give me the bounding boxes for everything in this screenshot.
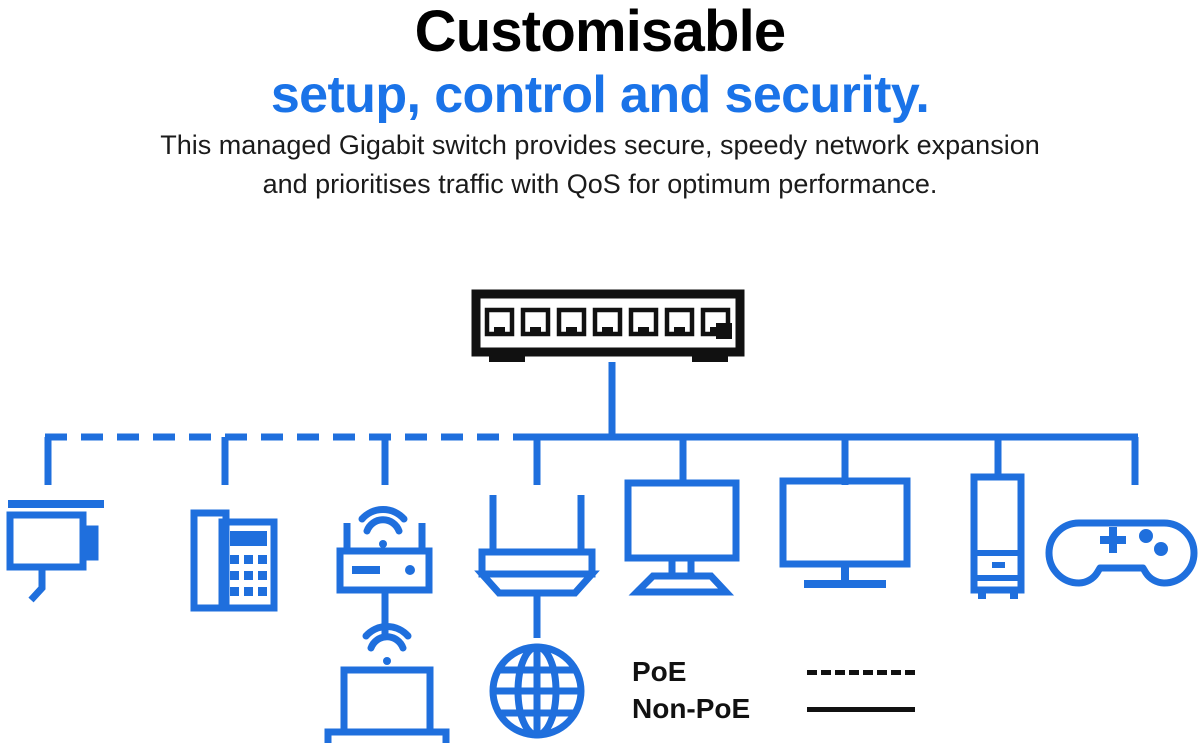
legend-swatch-solid — [807, 707, 915, 712]
legend-row-poe: PoE — [632, 655, 922, 689]
television-icon — [783, 481, 907, 584]
internet-globe-icon — [493, 647, 581, 735]
switch-status-indicator — [716, 323, 732, 339]
poe-bus — [45, 437, 537, 485]
legend-label-poe: PoE — [632, 655, 686, 689]
security-camera-icon — [8, 504, 104, 600]
desktop-monitor-icon — [628, 483, 736, 592]
subtitle-line-2: and prioritises traffic with QoS for opt… — [0, 165, 1200, 204]
wireless-laptop-icon — [328, 627, 446, 743]
infographic-page: Customisable setup, control and security… — [0, 0, 1200, 743]
headline-secondary: setup, control and security. — [0, 64, 1200, 126]
game-controller-icon — [1049, 523, 1194, 583]
subtitle-line-1: This managed Gigabit switch provides sec… — [0, 126, 1200, 165]
network-topology-diagram — [0, 270, 1200, 743]
headline-primary: Customisable — [0, 0, 1200, 64]
topology-svg — [0, 270, 1200, 743]
pc-tower-icon — [974, 477, 1021, 599]
ip-desk-phone-icon — [194, 513, 274, 608]
legend-label-non-poe: Non-PoE — [632, 692, 750, 726]
wireless-router-icon — [482, 495, 592, 638]
legend-row-non-poe: Non-PoE — [632, 692, 922, 726]
legend: PoE Non-PoE — [632, 655, 922, 735]
subtitle: This managed Gigabit switch provides sec… — [0, 126, 1200, 204]
heading-block: Customisable setup, control and security… — [0, 0, 1200, 204]
gigabit-network-switch-icon — [476, 294, 740, 362]
legend-swatch-dashed — [807, 670, 915, 675]
wireless-access-point-icon — [340, 510, 429, 638]
